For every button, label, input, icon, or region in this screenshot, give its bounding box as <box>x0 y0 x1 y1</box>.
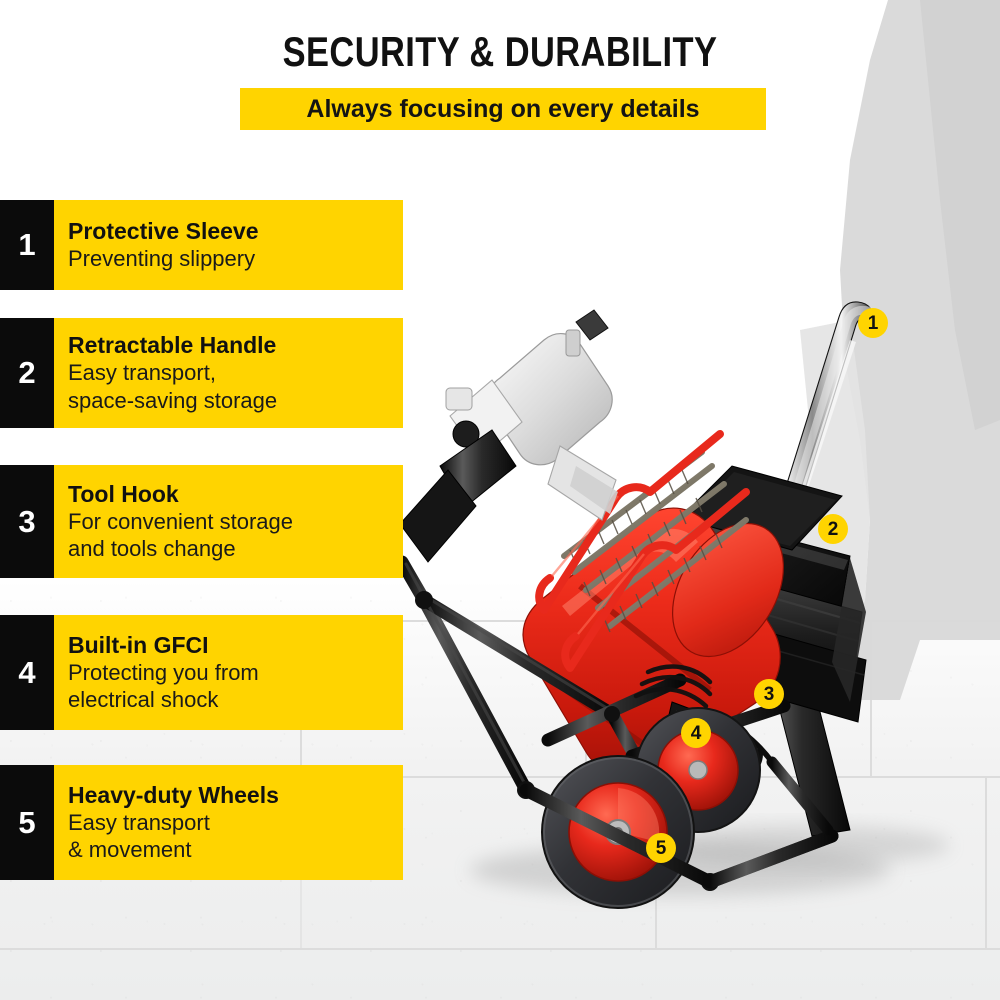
feature-title-4: Built-in GFCI <box>68 632 393 659</box>
feature-number-2: 2 <box>0 318 54 428</box>
callout-badge-1[interactable]: 1 <box>858 308 888 338</box>
feature-body-3: Tool Hook For convenient storage and too… <box>54 465 403 578</box>
page-title: SECURITY & DURABILITY <box>90 28 910 76</box>
feature-item-5[interactable]: 5 Heavy-duty Wheels Easy transport & mov… <box>0 765 403 880</box>
feature-number-3: 3 <box>0 465 54 578</box>
callout-badge-4[interactable]: 4 <box>681 718 711 748</box>
feature-item-4[interactable]: 4 Built-in GFCI Protecting you from elec… <box>0 615 403 730</box>
feature-body-4: Built-in GFCI Protecting you from electr… <box>54 615 403 730</box>
callout-badge-3[interactable]: 3 <box>754 679 784 709</box>
feature-desc-3: For convenient storage and tools change <box>68 508 393 563</box>
feature-title-2: Retractable Handle <box>68 332 393 359</box>
feature-desc-1: Preventing slippery <box>68 245 393 272</box>
feature-body-5: Heavy-duty Wheels Easy transport & movem… <box>54 765 403 880</box>
feature-body-1: Protective Sleeve Preventing slippery <box>54 200 403 290</box>
infographic-page: SECURITY & DURABILITY Always focusing on… <box>0 0 1000 1000</box>
feature-number-4: 4 <box>0 615 54 730</box>
feature-item-1[interactable]: 1 Protective Sleeve Preventing slippery <box>0 200 403 290</box>
feature-desc-2: Easy transport, space-saving storage <box>68 359 393 414</box>
feature-number-1: 1 <box>0 200 54 290</box>
callout-badge-2[interactable]: 2 <box>818 514 848 544</box>
feature-desc-4: Protecting you from electrical shock <box>68 659 393 714</box>
subtitle-banner: Always focusing on every details <box>240 88 766 130</box>
feature-item-3[interactable]: 3 Tool Hook For convenient storage and t… <box>0 465 403 578</box>
feature-title-5: Heavy-duty Wheels <box>68 782 393 809</box>
callout-badge-5[interactable]: 5 <box>646 833 676 863</box>
product-image-drain-cleaning-machine <box>380 270 1000 950</box>
feature-number-5: 5 <box>0 765 54 880</box>
feature-desc-5: Easy transport & movement <box>68 809 393 864</box>
feature-title-3: Tool Hook <box>68 481 393 508</box>
feature-title-1: Protective Sleeve <box>68 218 393 245</box>
feature-item-2[interactable]: 2 Retractable Handle Easy transport, spa… <box>0 318 403 428</box>
feature-body-2: Retractable Handle Easy transport, space… <box>54 318 403 428</box>
subtitle-text: Always focusing on every details <box>306 95 699 124</box>
